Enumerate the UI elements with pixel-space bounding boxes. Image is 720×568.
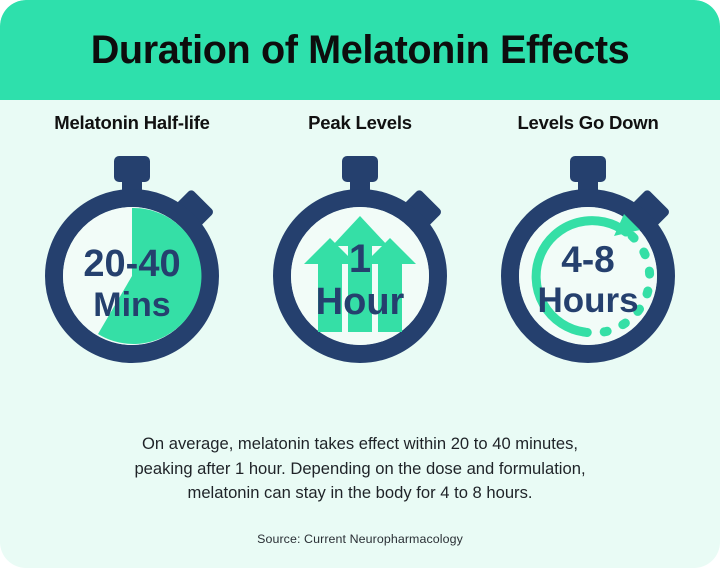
stopwatch-pie-icon: 20-40 Mins (32, 150, 232, 364)
caption-line-1: On average, melatonin takes effect withi… (60, 432, 660, 457)
column-peak-levels: Peak Levels (252, 112, 468, 364)
columns-row: Melatonin Half-life (0, 112, 720, 364)
caption: On average, melatonin takes effect withi… (60, 432, 660, 506)
stopwatch-value-line1: 4-8 (561, 239, 614, 280)
stopwatch-value-line2: Hour (316, 281, 405, 323)
header-band: Duration of Melatonin Effects (0, 0, 720, 100)
stopwatch-cycle-icon: 4-8 Hours (488, 150, 688, 364)
caption-line-2: peaking after 1 hour. Depending on the d… (60, 457, 660, 482)
caption-line-3: melatonin can stay in the body for 4 to … (60, 481, 660, 506)
stopwatch-value-line1: 20-40 (83, 243, 180, 285)
column-heading: Levels Go Down (517, 112, 658, 134)
page-title: Duration of Melatonin Effects (91, 30, 630, 70)
source-citation: Source: Current Neuropharmacology (60, 532, 660, 546)
column-heading: Peak Levels (308, 112, 412, 134)
stopwatch-value-line2: Hours (537, 281, 638, 320)
stopwatch-value-line2: Mins (93, 286, 170, 324)
column-heading: Melatonin Half-life (54, 112, 210, 134)
infographic-card: Duration of Melatonin Effects Melatonin … (0, 0, 720, 568)
column-melatonin-half-life: Melatonin Half-life (24, 112, 240, 364)
column-levels-go-down: Levels Go Down 4-8 (480, 112, 696, 364)
stopwatch-value-line1: 1 (349, 237, 371, 281)
stopwatch-arrows-icon: 1 Hour (260, 150, 460, 364)
